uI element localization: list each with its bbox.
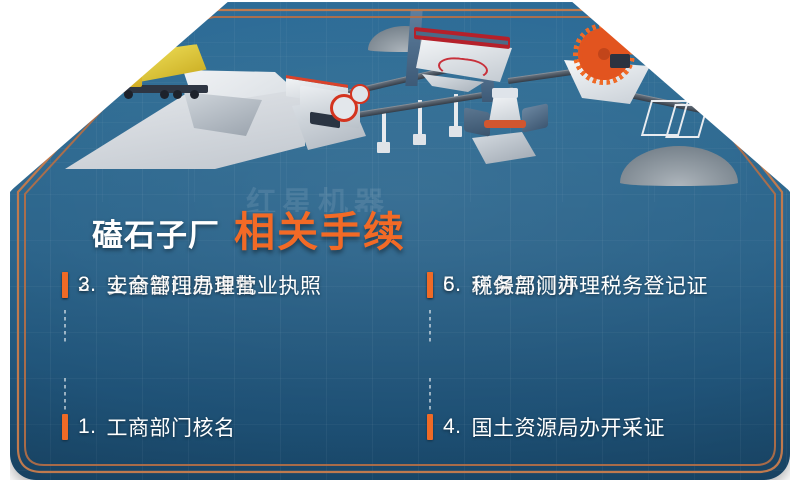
procedure-column-left: 1. 工商部门核名 2. 安全管理局审批 3. 工商部门办理营业执照	[62, 270, 412, 450]
bullet-icon	[427, 272, 433, 298]
list-item-label: 工商部门核名	[107, 412, 236, 442]
stockpile-icon	[620, 146, 738, 186]
connector-dots	[64, 310, 66, 344]
truck-wheel-icon	[173, 90, 182, 99]
list-item-index: 1.	[78, 415, 97, 439]
list-item-label: 工商部门办理营业执照	[107, 270, 322, 300]
title-white-part: 磕石子厂	[92, 210, 220, 255]
connector-dots	[429, 310, 431, 344]
banner-image: 红星机器 磕石子厂 相关手续 1. 工商部门核名 2.	[0, 0, 800, 500]
conveyor-foot-icon	[413, 134, 426, 145]
connector-dots	[429, 378, 431, 410]
list-item-label: 国土资源局办开采证	[472, 412, 666, 442]
bullet-icon	[62, 272, 68, 298]
list-item[interactable]: 3. 工商部门办理营业执照	[62, 270, 322, 300]
conveyor-foot-icon	[377, 142, 390, 153]
sand-washer-hub-icon	[598, 48, 610, 60]
sand-washer-motor-icon	[610, 54, 630, 68]
list-item-index: 3.	[78, 273, 97, 297]
procedure-list: 1. 工商部门核名 2. 安全管理局审批 3. 工商部门办理营业执照	[54, 270, 764, 450]
flywheel-icon	[350, 84, 370, 104]
list-item[interactable]: 6. 税务部门办理税务登记证	[427, 270, 708, 300]
cone-crusher-base-icon	[472, 132, 536, 164]
truck-wheel-icon	[160, 90, 169, 99]
list-item-label: 税务部门办理税务登记证	[472, 270, 709, 300]
list-item-index: 6.	[443, 273, 462, 297]
truck-wheel-icon	[190, 90, 199, 99]
bullet-icon	[427, 414, 433, 440]
connector-dots	[64, 378, 66, 410]
list-item[interactable]: 1. 工商部门核名	[62, 412, 236, 442]
bullet-icon	[62, 414, 68, 440]
cone-crusher-top-icon	[492, 88, 518, 98]
list-item-index: 4.	[443, 415, 462, 439]
cone-crusher-ring-icon	[484, 120, 526, 128]
conveyor-foot-icon	[449, 126, 462, 137]
title-orange-part: 相关手续	[234, 198, 406, 258]
procedure-column-right: 4. 国土资源局办开采证 5. 环保局测评 6. 税务部门办理税务登记证	[427, 270, 777, 450]
cone-crusher-side-icon	[522, 103, 548, 133]
list-item[interactable]: 4. 国土资源局办开采证	[427, 412, 665, 442]
page-title: 磕石子厂 相关手续	[92, 198, 406, 258]
truck-wheel-icon	[124, 90, 133, 99]
